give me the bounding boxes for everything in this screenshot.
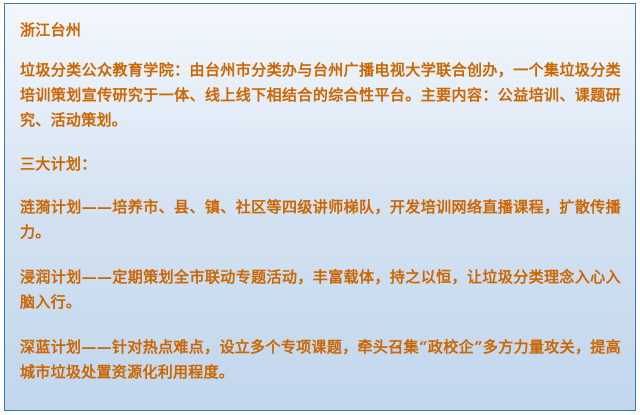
plan-paragraph-ripple: 涟漪计划——培养市、县、镇、社区等四级讲师梯队，开发培训网络直播课程，扩散传播力… <box>20 195 621 245</box>
plans-heading: 三大计划： <box>20 153 621 175</box>
intro-paragraph: 垃圾分类公众教育学院：由台州市分类办与台州广播电视大学联合创办，一个集垃圾分类培… <box>20 58 621 133</box>
plan-paragraph-immersion: 浸润计划——定期策划全市联动专题活动，丰富载体，持之以恒，让垃圾分类理念入心入脑… <box>20 265 621 315</box>
page-title: 浙江台州 <box>20 20 621 40</box>
article-body: 浙江台州 垃圾分类公众教育学院：由台州市分类办与台州广播电视大学联合创办，一个集… <box>18 20 621 385</box>
page-canvas: 浙江台州 垃圾分类公众教育学院：由台州市分类办与台州广播电视大学联合创办，一个集… <box>0 0 640 415</box>
plan-paragraph-deepblue: 深蓝计划——针对热点难点，设立多个专项课题，牵头召集“政校企”多方力量攻关，提高… <box>20 335 621 385</box>
content-panel: 浙江台州 垃圾分类公众教育学院：由台州市分类办与台州广播电视大学联合创办，一个集… <box>4 3 636 411</box>
